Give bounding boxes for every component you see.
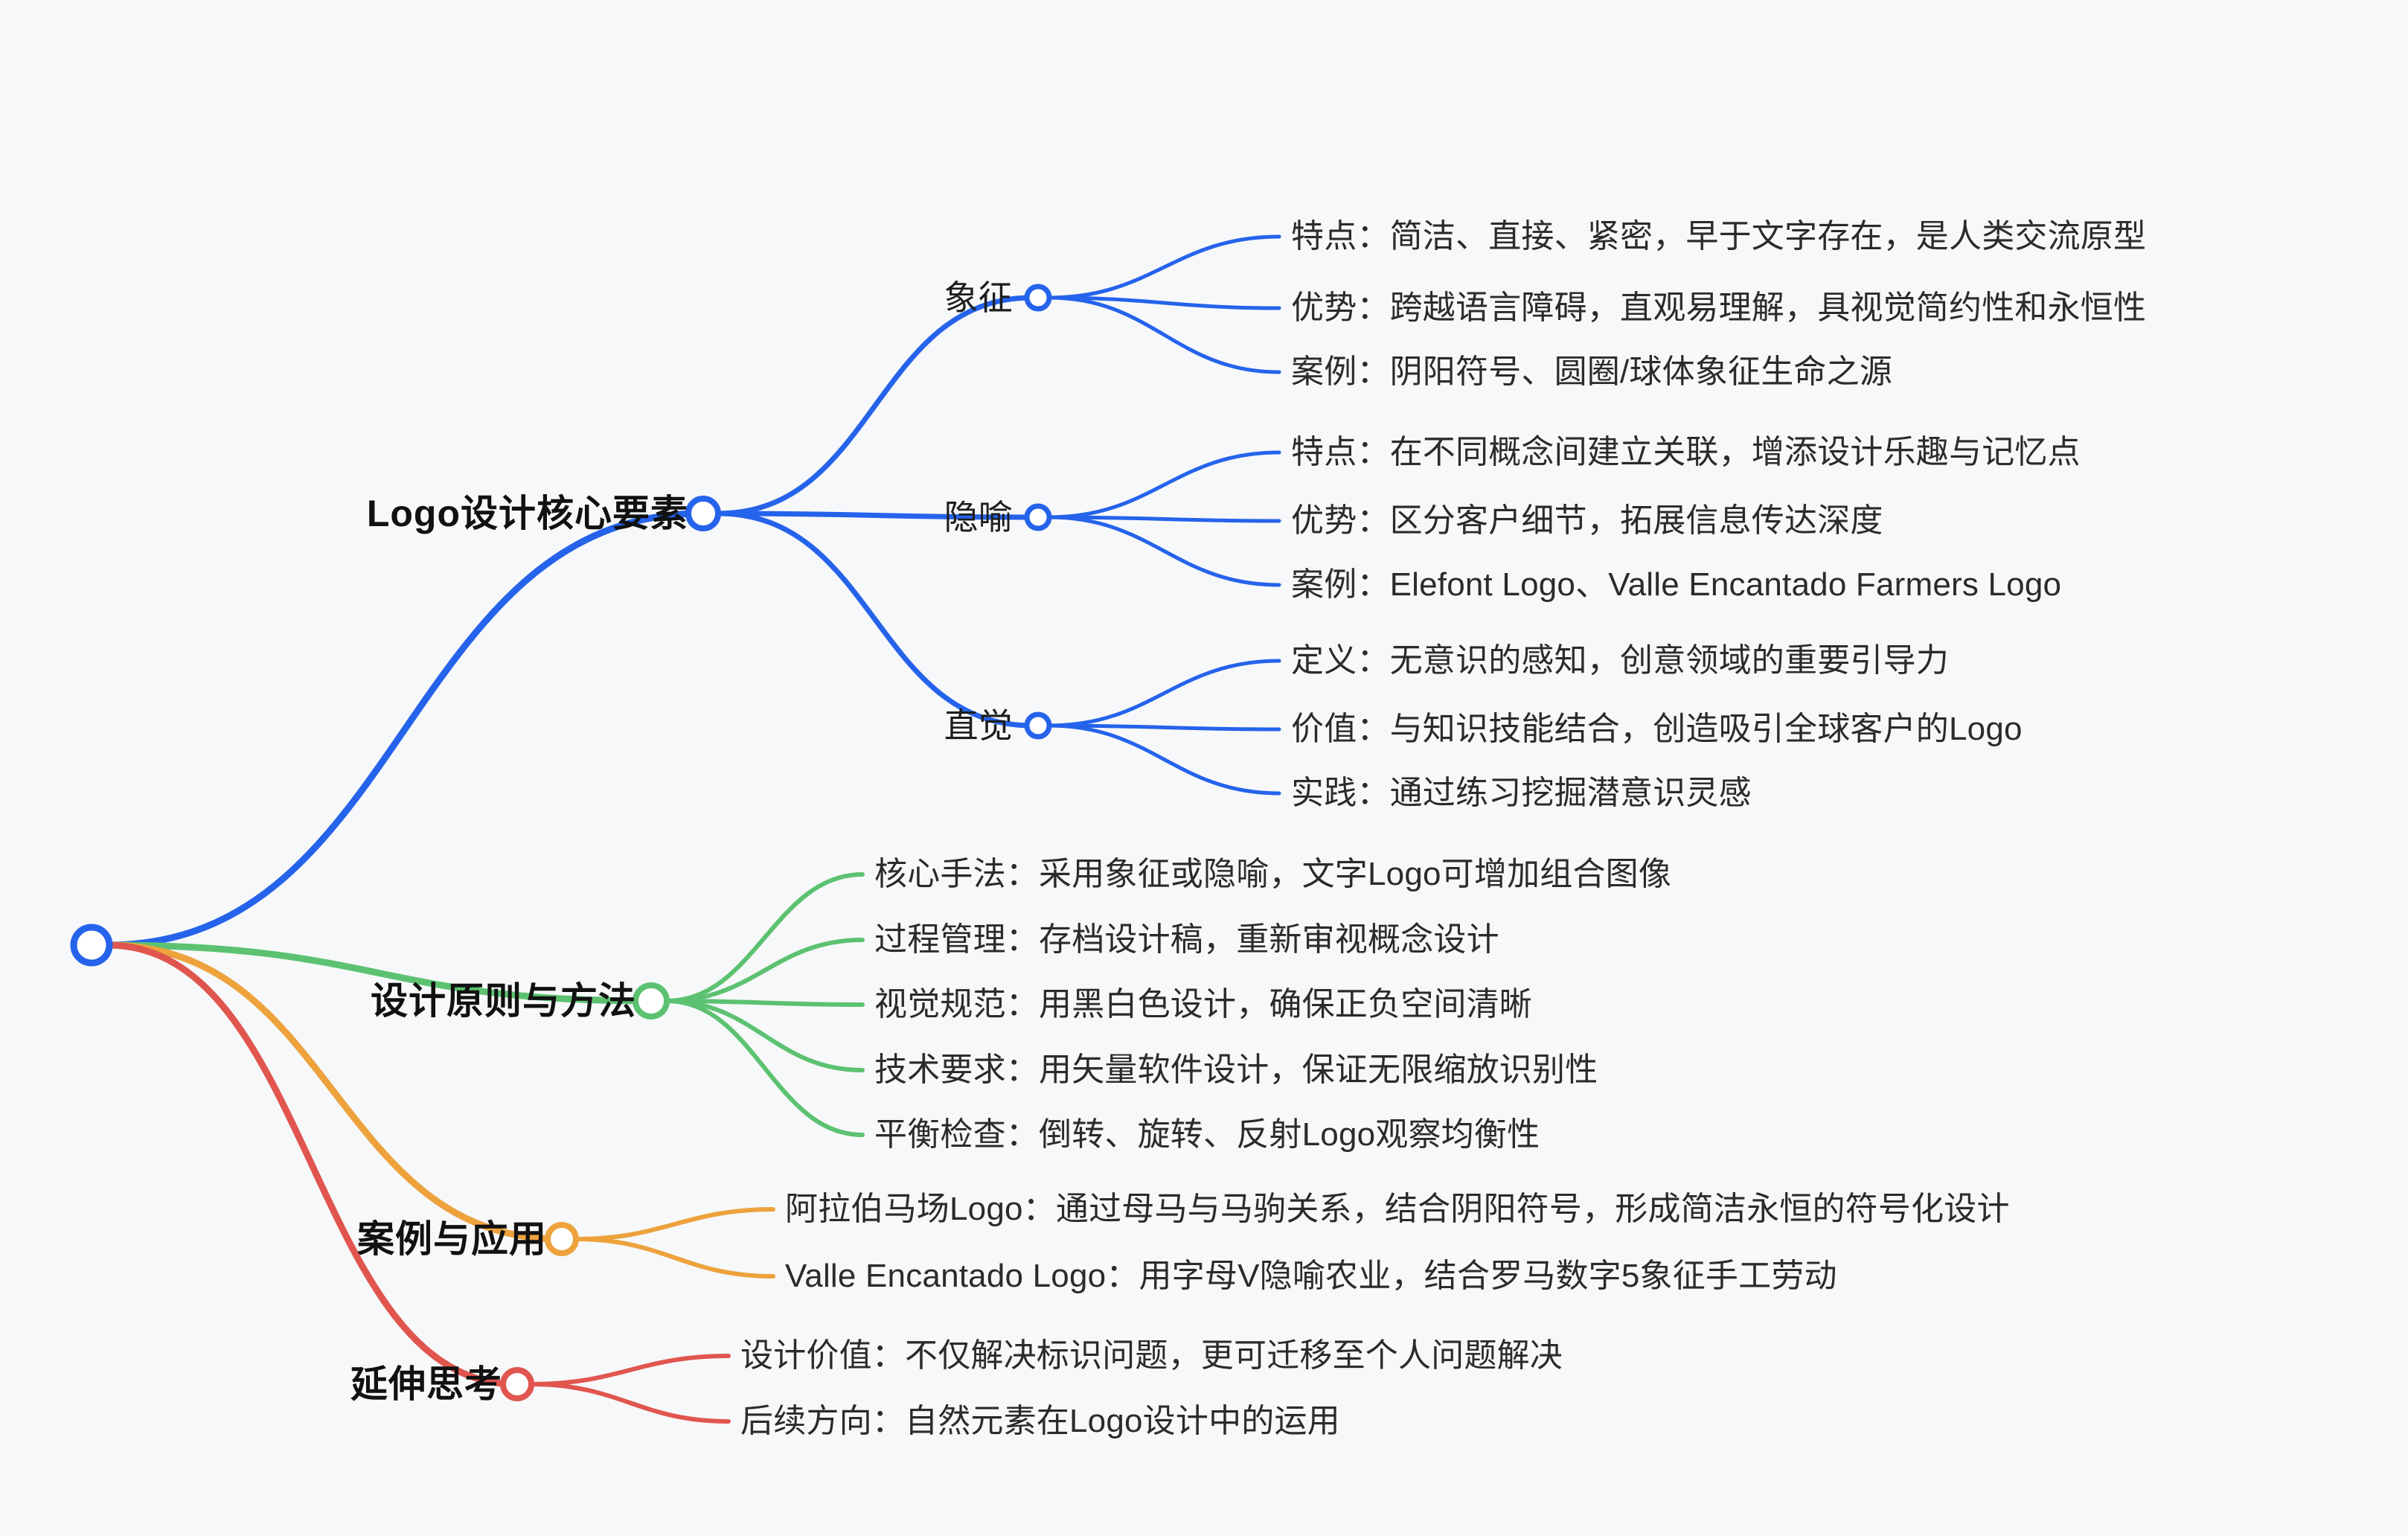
branch-label-core-elements[interactable]: Logo设计核心要素 [367,494,688,534]
leaf-label[interactable]: 优势：区分客户细节，拓展信息传达深度 [1291,504,1883,538]
leaf-label[interactable]: 特点：简洁、直接、紧密，早于文字存在，是人类交流原型 [1291,220,2146,254]
leaf-label[interactable]: 价值：与知识技能结合，创造吸引全球客户的Logo [1291,712,2023,746]
leaf-label[interactable]: 实践：通过练习挖掘潜意识灵感 [1291,776,1752,810]
branch-label-cases[interactable]: 案例与应用 [357,1220,547,1259]
mindmap-node-symbol[interactable] [1027,287,1049,309]
leaf-label[interactable]: 核心手法：采用象征或隐喻，文字Logo可增加组合图像 [874,857,1671,892]
branch-label-principles[interactable]: 设计原则与方法 [371,982,636,1021]
leaf-label[interactable]: 优势：跨越语言障碍，直观易理解，具视觉简约性和永恒性 [1291,291,2146,325]
mindmap-node-intuition[interactable] [1027,714,1049,737]
leaf-label[interactable]: 视觉规范：用黑白色设计，确保正负空间清晰 [874,988,1532,1022]
mindmap-node-principles[interactable] [635,985,667,1017]
sub-branch-label-metaphor[interactable]: 隐喻 [944,499,1013,535]
leaf-label[interactable]: 后续方向：自然元素在Logo设计中的运用 [740,1404,1340,1439]
mindmap-edge [1049,237,1279,298]
leaf-label[interactable]: 案例：Elefont Logo、Valle Encantado Farmers … [1291,568,2061,602]
leaf-label[interactable]: 定义：无意识的感知，创意领域的重要引导力 [1291,644,1949,678]
mindmap-node-extended[interactable] [503,1370,531,1398]
mindmap-edge [667,940,862,1001]
mindmap-edge [1049,726,1279,793]
mindmap-nodes [74,287,1049,1398]
mindmap-edge [1049,452,1279,517]
mindmap-edge [718,298,1032,513]
mindmap-edge [1049,661,1279,726]
mindmap-edge [576,1239,773,1276]
mindmap-edge [667,1001,862,1070]
mindmap-edge [667,874,862,1001]
leaf-label[interactable]: Valle Encantado Logo：用字母V隐喻农业，结合罗马数字5象征手… [785,1259,1837,1293]
mindmap-edge [108,513,702,945]
branch-label-extended[interactable]: 延伸思考 [350,1365,502,1404]
leaf-label[interactable]: 设计价值：不仅解决标识问题，更可迁移至个人问题解决 [740,1339,1563,1373]
mindmap-edge [531,1356,729,1384]
leaf-label[interactable]: 技术要求：用矢量软件设计，保证无限缩放识别性 [874,1053,1598,1087]
mindmap-edge [1049,517,1279,585]
mindmap-edge [718,513,1032,726]
mindmap-edges [108,237,1279,1421]
leaf-label[interactable]: 阿拉伯马场Logo：通过母马与马驹关系，结合阴阳符号，形成简洁永恒的符号化设计 [785,1192,2010,1226]
mindmap-node-metaphor[interactable] [1027,506,1049,528]
mindmap-root-node[interactable] [74,927,109,963]
leaf-label[interactable]: 案例：阴阳符号、圆圈/球体象征生命之源 [1291,355,1892,389]
mindmap-node-core-elements[interactable] [688,499,718,528]
leaf-label[interactable]: 特点：在不同概念间建立关联，增添设计乐趣与记忆点 [1291,435,2081,470]
mindmap-edge [576,1209,773,1239]
leaf-label[interactable]: 过程管理：存档设计稿，重新审视概念设计 [874,923,1499,957]
mindmap-edge [531,1384,729,1421]
mindmap-node-cases[interactable] [548,1225,576,1253]
leaf-label[interactable]: 平衡检查：倒转、旋转、反射Logo观察均衡性 [874,1118,1540,1152]
sub-branch-label-symbol[interactable]: 象征 [944,280,1013,316]
sub-branch-label-intuition[interactable]: 直觉 [944,708,1013,743]
